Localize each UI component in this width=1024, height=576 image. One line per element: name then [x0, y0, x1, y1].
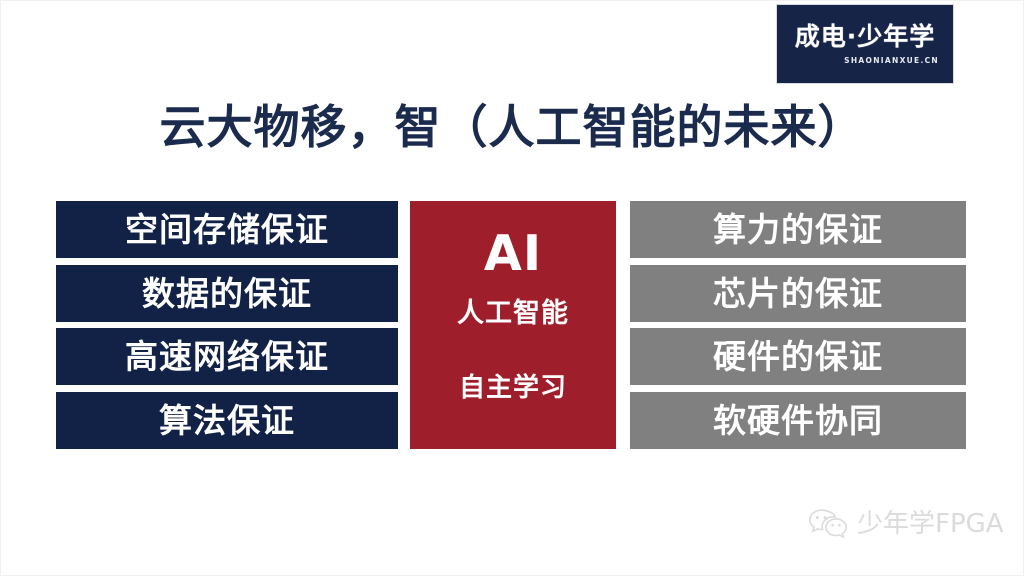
right-column: 算力的保证 芯片的保证 硬件的保证 软硬件协同	[630, 201, 966, 449]
center-ai-block: AI 人工智能 自主学习	[410, 201, 616, 449]
brand-logo-name: 成电·少年学	[795, 24, 936, 49]
right-item-3: 硬件的保证	[630, 328, 966, 385]
left-item-4-label: 算法保证	[159, 404, 295, 437]
ai-subtitle: 人工智能	[457, 300, 569, 327]
left-item-2-label: 数据的保证	[142, 277, 312, 310]
slide-canvas: 成电·少年学 SHAONIANXUE.CN 云大物移，智（人工智能的未来） 空间…	[0, 0, 1024, 576]
column-gap-right	[616, 201, 630, 449]
right-item-4-label: 软硬件协同	[713, 404, 883, 437]
left-column: 空间存储保证 数据的保证 高速网络保证 算法保证	[56, 201, 398, 449]
ai-footer: 自主学习	[459, 375, 567, 401]
right-item-1-label: 算力的保证	[713, 213, 883, 246]
watermark: 少年学FPGA	[807, 507, 1004, 541]
wechat-icon	[807, 507, 849, 541]
left-item-2: 数据的保证	[56, 265, 398, 322]
watermark-label: 少年学FPGA	[857, 511, 1004, 537]
content-columns: 空间存储保证 数据的保证 高速网络保证 算法保证 AI 人工智能 自主学习 算力…	[56, 201, 966, 449]
right-item-4: 软硬件协同	[630, 392, 966, 449]
left-item-1: 空间存储保证	[56, 201, 398, 258]
column-gap-left	[398, 201, 410, 449]
ai-headline: AI	[484, 229, 542, 278]
brand-logo-badge: 成电·少年学 SHAONIANXUE.CN	[777, 5, 953, 83]
left-item-3: 高速网络保证	[56, 328, 398, 385]
brand-logo-url: SHAONIANXUE.CN	[844, 56, 939, 65]
left-item-1-label: 空间存储保证	[125, 213, 329, 246]
right-item-3-label: 硬件的保证	[713, 340, 883, 373]
right-item-1: 算力的保证	[630, 201, 966, 258]
slide-title: 云大物移，智（人工智能的未来）	[1, 101, 1023, 154]
left-item-3-label: 高速网络保证	[125, 340, 329, 373]
right-item-2-label: 芯片的保证	[713, 277, 883, 310]
right-item-2: 芯片的保证	[630, 265, 966, 322]
left-item-4: 算法保证	[56, 392, 398, 449]
